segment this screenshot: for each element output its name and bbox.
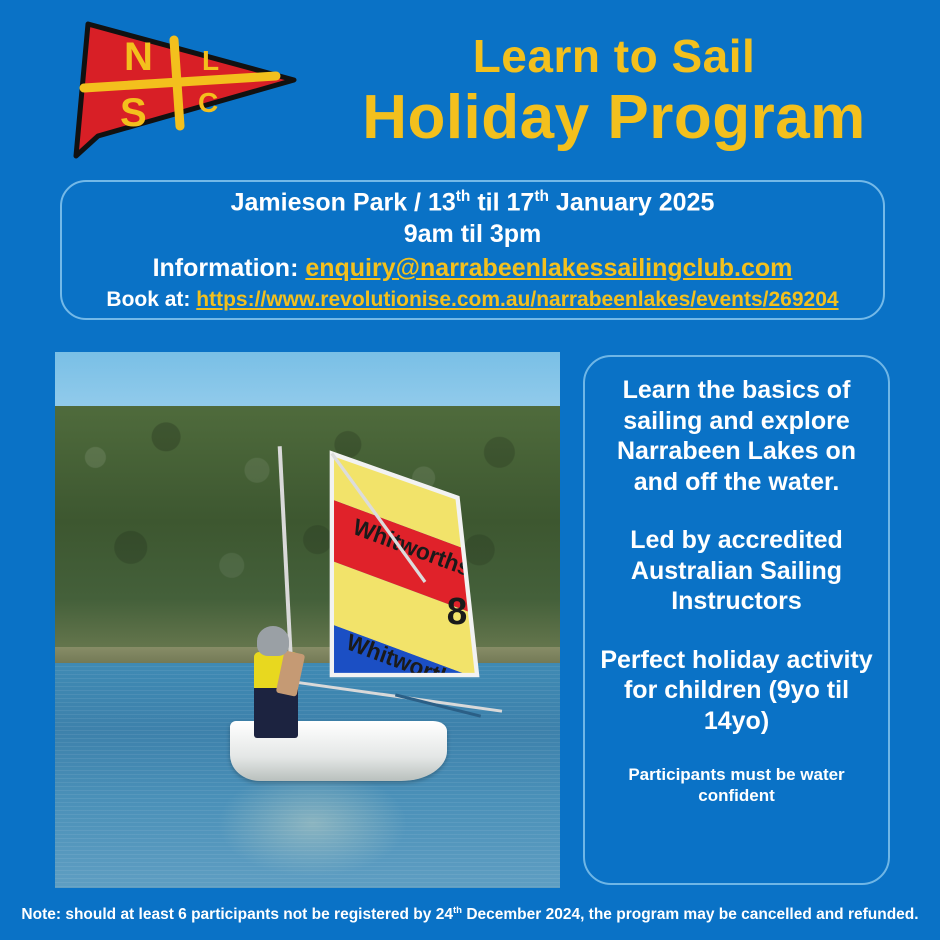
svg-text:C: C	[198, 87, 218, 118]
program-details-panel: Learn the basics of sailing and explore …	[583, 355, 890, 885]
sail-number: 8	[446, 589, 466, 631]
venue-sup-1: th	[456, 188, 471, 205]
panel-text-learn-basics: Learn the basics of sailing and explore …	[599, 375, 874, 497]
cancellation-note: Note: should at least 6 participants not…	[21, 905, 918, 924]
svg-text:L: L	[202, 45, 219, 76]
photo-dinghy-group: Whitworths Whitworths 8	[277, 438, 560, 867]
photo-striped-sail: Whitworths Whitworths 8	[295, 438, 512, 704]
svg-text:N: N	[124, 35, 153, 79]
poster-header: N S L C Learn to Sail Holiday Program	[0, 0, 940, 172]
venue-suffix: January 2025	[549, 188, 714, 216]
enquiry-email-link[interactable]: enquiry@narrabeenlakessailingclub.com	[305, 254, 792, 282]
club-burgee-logo: N S L C	[62, 14, 302, 166]
panel-text-age-range: Perfect holiday activity for children (9…	[599, 645, 874, 737]
panel-text-water-confident: Participants must be water confident	[599, 764, 874, 807]
svg-text:S: S	[120, 91, 147, 135]
poster-root: N S L C Learn to Sail Holiday Program Ja…	[0, 0, 940, 940]
footer-note-bar: Note: should at least 6 participants not…	[0, 898, 940, 932]
booking-row: Book at: https://www.revolutionise.com.a…	[106, 288, 838, 313]
booking-url-link[interactable]: https://www.revolutionise.com.au/narrabe…	[196, 288, 838, 311]
venue-prefix: Jamieson Park / 13	[231, 188, 456, 216]
title-line-2: Holiday Program	[362, 84, 866, 152]
book-label: Book at:	[106, 288, 196, 311]
venue-mid: til 17	[470, 188, 534, 216]
note-prefix: Note: should at least 6 participants not…	[21, 907, 453, 924]
event-venue-dates: Jamieson Park / 13th til 17th January 20…	[231, 188, 715, 218]
information-label: Information:	[153, 254, 306, 282]
page-title: Learn to Sail Holiday Program	[300, 12, 928, 172]
sailing-photo: Whitworths Whitworths 8	[55, 352, 560, 888]
venue-sup-2: th	[534, 188, 549, 205]
panel-text-accredited-instructors: Led by accredited Australian Sailing Ins…	[599, 525, 874, 617]
event-details-box: Jamieson Park / 13th til 17th January 20…	[60, 180, 885, 320]
information-row: Information: enquiry@narrabeenlakessaili…	[153, 254, 793, 284]
event-times: 9am til 3pm	[404, 220, 542, 250]
note-sup: th	[453, 905, 462, 916]
title-line-1: Learn to Sail	[473, 32, 756, 80]
note-suffix: December 2024, the program may be cancel…	[462, 907, 919, 924]
photo-sailor-hat	[257, 626, 289, 656]
